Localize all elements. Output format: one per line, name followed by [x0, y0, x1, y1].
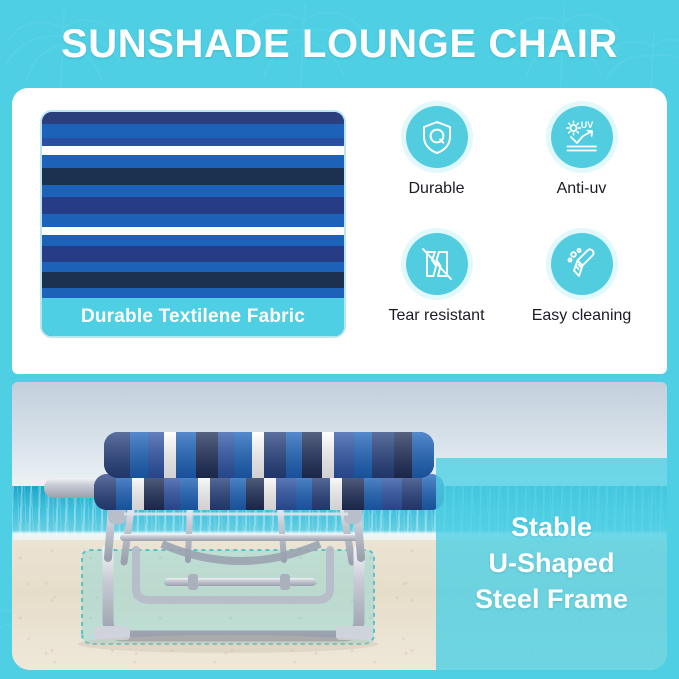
fabric-stripe	[42, 227, 344, 235]
product-photo-card: Stable U-Shaped Steel Frame	[12, 382, 667, 670]
feature-anti-uv[interactable]: UV Anti-uv	[509, 106, 654, 227]
photo-caption-line-3: Steel Frame	[475, 584, 628, 616]
fabric-stripe	[42, 246, 344, 262]
fabric-stripe	[42, 138, 344, 146]
fabric-stripe	[42, 155, 344, 168]
fabric-stripe	[42, 168, 344, 185]
fabric-caption-bar: Durable Textilene Fabric	[42, 298, 344, 336]
fabric-stripe-pattern	[42, 112, 344, 302]
fabric-stripe	[42, 197, 344, 214]
cleaning-brush-icon	[551, 233, 613, 295]
tear-resistant-icon	[406, 233, 468, 295]
fabric-stripe	[42, 272, 344, 288]
photo-caption-overlay: Stable U-Shaped Steel Frame	[436, 458, 667, 670]
fabric-stripe	[42, 262, 344, 272]
shield-q-icon	[406, 106, 468, 168]
fabric-stripe	[42, 214, 344, 227]
fabric-swatch-panel: Durable Textilene Fabric	[40, 110, 346, 338]
photo-caption-line-1: Stable	[511, 512, 592, 544]
fabric-caption-text: Durable Textilene Fabric	[81, 306, 305, 328]
fabric-stripe	[42, 185, 344, 197]
feature-easy-cleaning[interactable]: Easy cleaning	[509, 233, 654, 354]
anti-uv-icon: UV	[551, 106, 613, 168]
fabric-stripe	[42, 146, 344, 155]
fabric-stripe	[42, 112, 344, 124]
feature-label: Durable	[408, 180, 464, 198]
svg-text:UV: UV	[580, 120, 593, 130]
feature-tear-resistant[interactable]: Tear resistant	[364, 233, 509, 354]
feature-label: Tear resistant	[388, 307, 484, 325]
fabric-stripe	[42, 124, 344, 138]
product-infographic: SUNSHADE LOUNGE CHAIR Durable Textilene …	[0, 0, 679, 679]
feature-label: Anti-uv	[557, 180, 607, 198]
feature-label: Easy cleaning	[532, 307, 632, 325]
photo-caption-line-2: U-Shaped	[488, 548, 614, 580]
fabric-stripe	[42, 235, 344, 246]
page-title: SUNSHADE LOUNGE CHAIR	[61, 24, 618, 64]
title-bar: SUNSHADE LOUNGE CHAIR	[0, 0, 679, 88]
features-card: Durable Textilene Fabric Durable	[12, 88, 667, 374]
feature-durable[interactable]: Durable	[364, 106, 509, 227]
feature-grid: Durable	[364, 106, 654, 354]
